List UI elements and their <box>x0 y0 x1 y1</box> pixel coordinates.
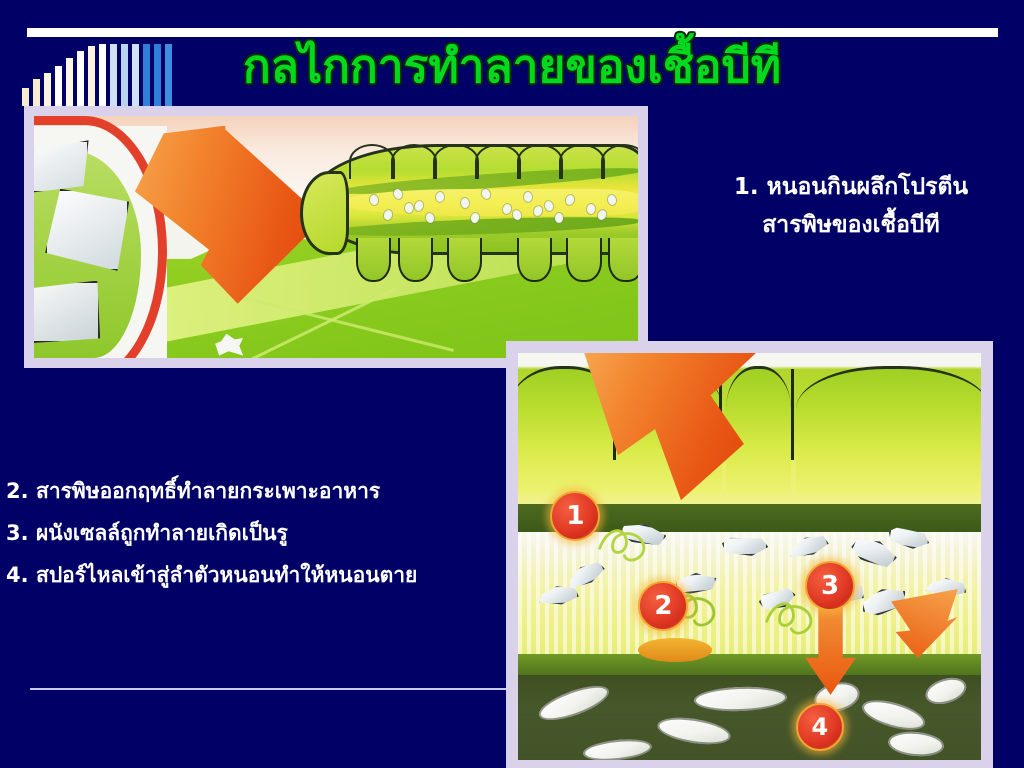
figure1-cell-membrane <box>34 116 167 358</box>
list-item-label: สารพิษออกฤทธิ์ทำลายกระเพาะอาหาร <box>36 470 380 512</box>
caption-line: สารพิษของเชื้อบีที <box>686 206 1016 244</box>
figure-caterpillar-image <box>34 116 638 358</box>
figure1-caterpillar <box>300 135 638 285</box>
figure2-badge-3: 3 <box>805 561 855 611</box>
figure-gut-image: 1 2 3 4 <box>518 353 981 760</box>
page-title: กลไกการทำลายของเชื้อบีที <box>0 38 1024 94</box>
caterpillar-segment <box>475 144 521 179</box>
caterpillar-segment <box>559 144 605 179</box>
caterpillar-head <box>300 171 349 255</box>
list-item: 3. ผนังเซลล์ถูกทำลายเกิดเป็นรู <box>6 512 526 554</box>
caterpillar-proleg <box>356 238 392 282</box>
list-item-number: 2. <box>6 470 36 512</box>
caterpillar-segment <box>433 144 479 179</box>
list-item-label: สปอร์ไหลเข้าสู่ลำตัวหนอนทำให้หนอนตาย <box>36 554 417 596</box>
list-item-number: 3. <box>6 512 36 554</box>
list-item: 4. สปอร์ไหลเข้าสู่ลำตัวหนอนทำให้หนอนตาย <box>6 554 526 596</box>
caterpillar-segment <box>601 144 638 179</box>
caption-step-one: 1. หนอนกินผลึกโปรตีน สารพิษของเชื้อบีที <box>686 168 1016 244</box>
list-item-number: 4. <box>6 554 36 596</box>
caterpillar-proleg <box>566 238 602 282</box>
figure2-badge-2: 2 <box>638 581 688 631</box>
figure2-toxin-squiggle <box>592 516 657 573</box>
caterpillar-segment <box>391 144 437 179</box>
figure-caterpillar-frame <box>24 106 648 368</box>
figure2-villus-gap <box>791 369 794 460</box>
caterpillar-proleg <box>517 238 553 282</box>
caption-line: 1. หนอนกินผลึกโปรตีน <box>686 168 1016 206</box>
figure2-villi-layer <box>518 353 981 516</box>
list-item-label: ผนังเซลล์ถูกทำลายเกิดเป็นรู <box>36 512 288 554</box>
caterpillar-spot <box>405 203 413 213</box>
caterpillar-proleg <box>447 238 483 282</box>
figure2-villus <box>796 366 981 493</box>
figure1-cell-wall-panel <box>34 126 167 358</box>
figure-gut-frame: 1 2 3 4 <box>506 341 993 768</box>
header-rule <box>27 28 998 37</box>
caterpillar-proleg <box>398 238 434 282</box>
caterpillar-segment <box>349 144 395 179</box>
figure2-villus <box>726 366 791 493</box>
list-item: 2. สารพิษออกฤทธิ์ทำลายกระเพาะอาหาร <box>6 470 526 512</box>
step-list: 2. สารพิษออกฤทธิ์ทำลายกระเพาะอาหาร 3. ผน… <box>6 470 526 596</box>
caterpillar-proleg <box>608 238 638 282</box>
caterpillar-segment <box>517 144 563 179</box>
slide-canvas: กลไกการทำลายของเชื้อบีที <box>0 0 1024 768</box>
figure2-badge-4: 4 <box>796 703 844 751</box>
